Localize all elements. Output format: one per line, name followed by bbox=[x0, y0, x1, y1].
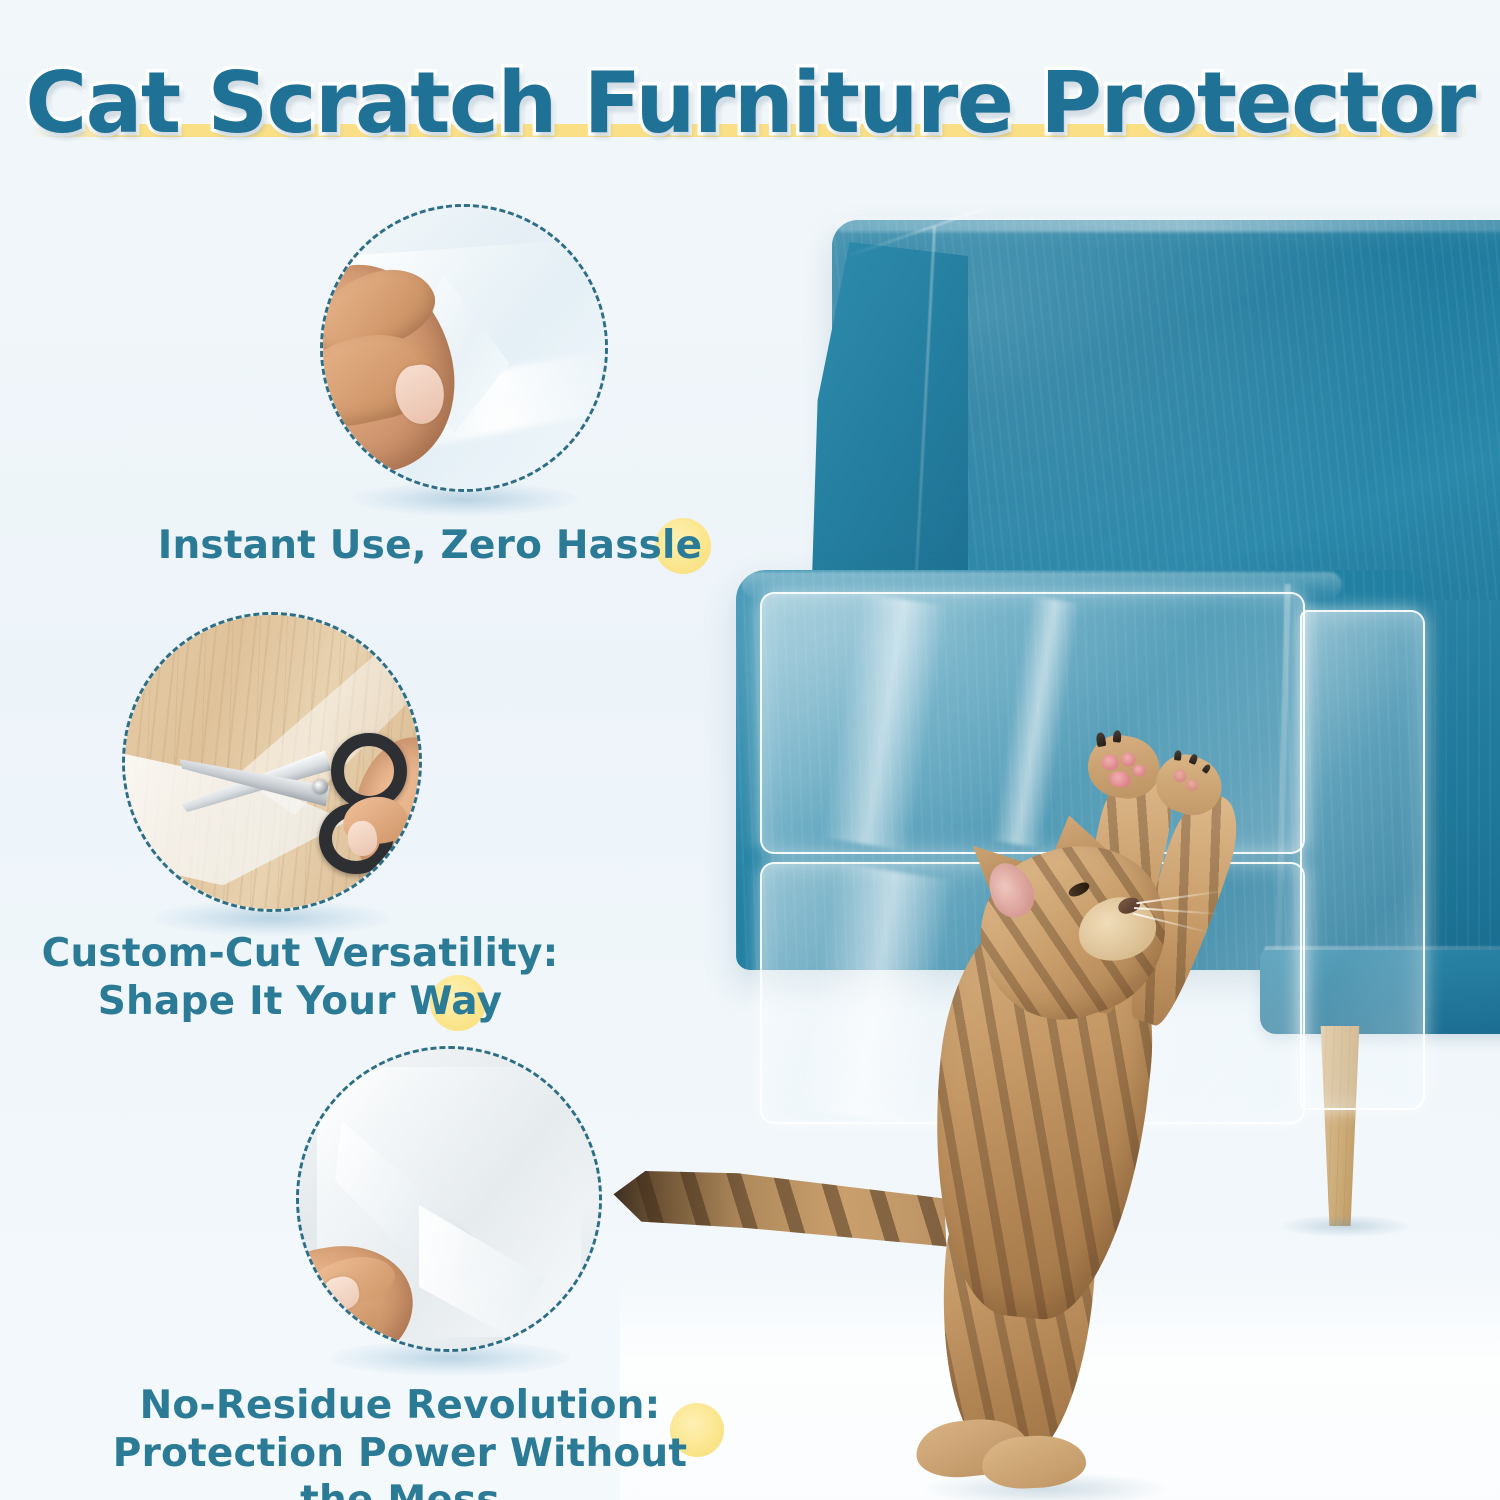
cat-tail bbox=[611, 1131, 947, 1268]
product-infographic: Cat Scratch Furniture Protector Instant … bbox=[0, 0, 1500, 1500]
cat bbox=[850, 720, 1370, 1500]
caption-line: Instant Use, Zero Hassle bbox=[150, 522, 710, 570]
caption-custom-cut: Custom-Cut Versatility: Shape It Your Wa… bbox=[30, 930, 570, 1025]
caption-line: Custom-Cut Versatility: bbox=[30, 930, 570, 978]
caption-line: Protection Power Without the Mess bbox=[70, 1430, 730, 1500]
photo-no-residue-film-peel bbox=[296, 1046, 602, 1352]
caption-instant-use: Instant Use, Zero Hassle bbox=[150, 522, 710, 570]
page-title: Cat Scratch Furniture Protector bbox=[8, 52, 1493, 156]
photo-instant-use-film-peel bbox=[320, 204, 608, 492]
photo-custom-cut-scissors bbox=[122, 612, 422, 912]
caption-line: No-Residue Revolution: bbox=[70, 1382, 730, 1430]
caption-line: Shape It Your Way bbox=[30, 978, 570, 1026]
page-title-block: Cat Scratch Furniture Protector bbox=[0, 52, 1500, 160]
caption-no-residue: No-Residue Revolution: Protection Power … bbox=[70, 1382, 730, 1500]
scene-sofa-with-cat bbox=[720, 180, 1500, 1500]
